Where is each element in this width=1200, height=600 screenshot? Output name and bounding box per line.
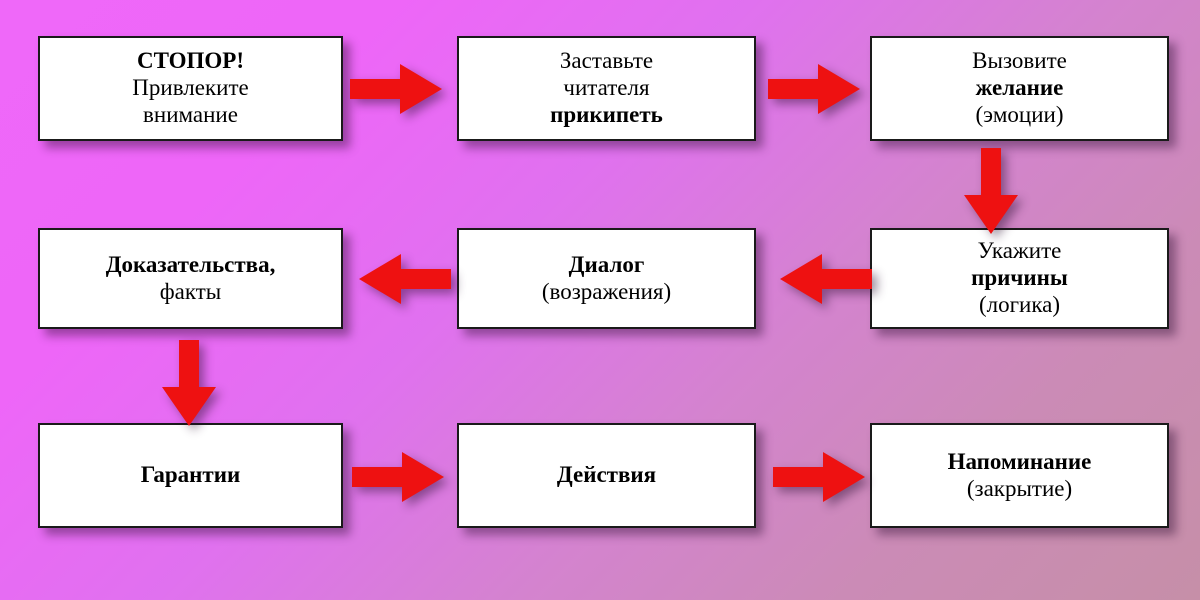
arrow-left-icon [359, 251, 451, 307]
flowchart-canvas: СТОПОР! Привлеките внимание Заставьте чи… [0, 0, 1200, 600]
node-line: Заставьте [560, 48, 653, 75]
node-line: Укажите [978, 238, 1062, 265]
node-line: желание [976, 75, 1064, 102]
flow-node-garantii[interactable]: Гарантии [38, 423, 343, 528]
arrow-down-icon [962, 148, 1020, 234]
node-line: Доказательства, [106, 252, 276, 279]
arrow-right-icon [773, 449, 865, 505]
node-line: причины [971, 265, 1068, 292]
flow-node-dokazatelstva[interactable]: Доказательства, факты [38, 228, 343, 329]
node-line: внимание [143, 102, 238, 129]
node-line: прикипеть [550, 102, 663, 129]
node-line: Привлеките [132, 75, 248, 102]
node-line: Диалог [569, 252, 645, 279]
node-line: читателя [563, 75, 649, 102]
node-line: (закрытие) [967, 476, 1072, 503]
node-line: Действия [557, 462, 656, 489]
node-line: (логика) [979, 292, 1060, 319]
flow-node-napominanie[interactable]: Напоминание (закрытие) [870, 423, 1169, 528]
flow-node-prikipet[interactable]: Заставьте читателя прикипеть [457, 36, 756, 141]
node-line: факты [160, 279, 222, 306]
arrow-down-icon [160, 340, 218, 426]
node-line: Вызовите [972, 48, 1067, 75]
flow-node-prichiny[interactable]: Укажите причины (логика) [870, 228, 1169, 329]
flow-node-deystviya[interactable]: Действия [457, 423, 756, 528]
node-line: СТОПОР! [137, 48, 244, 75]
node-line: Гарантии [141, 462, 240, 489]
arrow-left-icon [780, 251, 872, 307]
flow-node-zhelanie[interactable]: Вызовите желание (эмоции) [870, 36, 1169, 141]
flow-node-stopor[interactable]: СТОПОР! Привлеките внимание [38, 36, 343, 141]
arrow-right-icon [768, 61, 860, 117]
node-line: (возражения) [542, 279, 671, 306]
node-line: (эмоции) [976, 102, 1064, 129]
flow-node-dialog[interactable]: Диалог (возражения) [457, 228, 756, 329]
node-line: Напоминание [948, 449, 1092, 476]
arrow-right-icon [350, 61, 442, 117]
arrow-right-icon [352, 449, 444, 505]
